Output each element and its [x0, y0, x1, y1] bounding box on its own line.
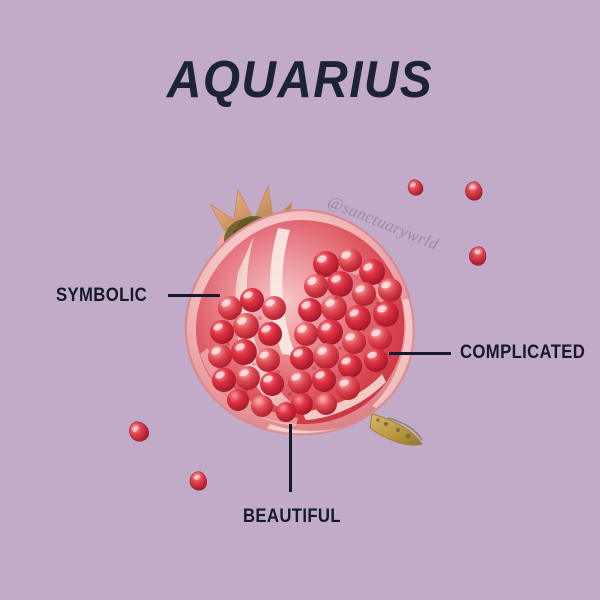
seed-top-right-2-svg	[460, 176, 488, 207]
pomegranate-svg	[150, 168, 450, 468]
pomegranate-stem	[370, 414, 422, 445]
annotation-label-beautiful: BEAUTIFUL	[243, 507, 341, 526]
seed-top-right-3-svg	[463, 240, 494, 272]
seed-top-right-2	[460, 176, 488, 207]
seed-top-right-3	[463, 240, 494, 272]
page-title: AQUARIUS	[24, 54, 576, 106]
leader-line-symbolic	[168, 294, 220, 297]
annotation-label-complicated: COMPLICATED	[460, 343, 585, 362]
leader-line-complicated	[389, 352, 451, 355]
pomegranate-illustration	[150, 168, 450, 468]
leader-line-beautiful	[289, 424, 292, 492]
annotation-label-symbolic: SYMBOLIC	[56, 286, 147, 305]
seed-bottom-left-2-svg	[183, 467, 214, 494]
poster-canvas: AQUARIUS	[0, 0, 600, 600]
seed-bottom-left-2	[183, 467, 214, 494]
